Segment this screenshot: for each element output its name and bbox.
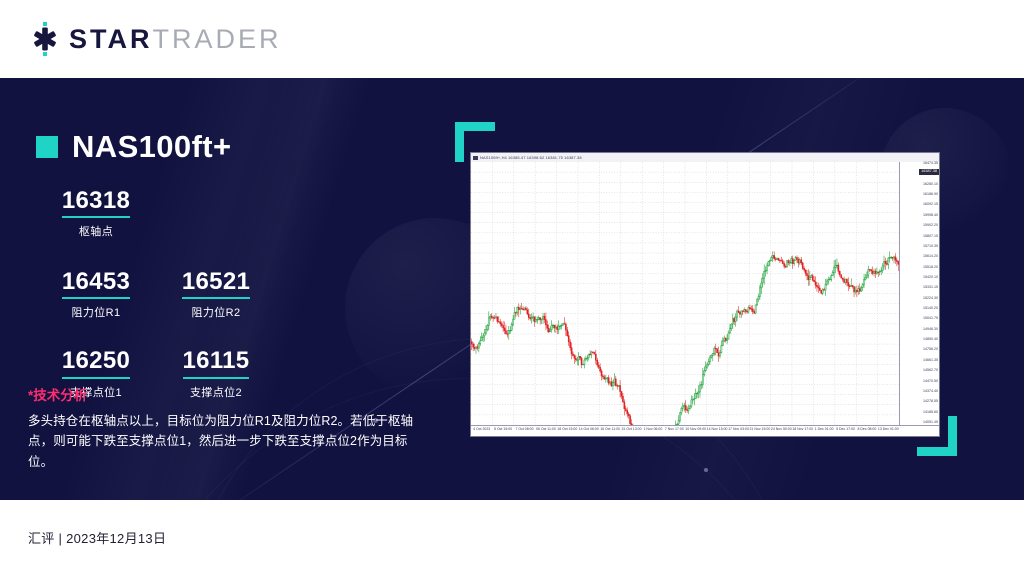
chart-menu-icon[interactable] bbox=[473, 156, 478, 160]
logo-text-star: STAR bbox=[69, 26, 153, 53]
level-pivot-label: 枢轴点 bbox=[36, 223, 156, 239]
level-s2-value: 16115 bbox=[183, 348, 250, 378]
chart-title-bar: NAS100ft+,H4 16385.47 16398.62 16381.75 … bbox=[471, 153, 939, 162]
price-tick: 15807.15 bbox=[923, 235, 938, 239]
logo-text-trader: TRADER bbox=[153, 26, 282, 53]
price-tick: 15224.30 bbox=[923, 297, 938, 301]
trading-chart-window[interactable]: NAS100ft+,H4 16385.47 16398.62 16381.75 … bbox=[470, 152, 940, 437]
time-tick: 8 Dec 08:00 bbox=[857, 428, 876, 432]
price-axis[interactable]: 16474.3516387.3816280.1016186.9016092.15… bbox=[899, 162, 939, 425]
time-tick: 31 Oct 13:00 bbox=[621, 428, 641, 432]
price-tick: 14946.30 bbox=[923, 328, 938, 332]
price-tick: 15420.10 bbox=[923, 276, 938, 280]
time-tick: 4 Oct 2023 bbox=[473, 428, 490, 432]
time-tick: 06 Oct 11:00 bbox=[536, 428, 556, 432]
level-r1-value: 16453 bbox=[62, 269, 130, 299]
time-tick: 5 Dec 17:00 bbox=[836, 428, 855, 432]
chart-title-text: NAS100ft+,H4 16385.47 16398.62 16381.75 … bbox=[471, 153, 939, 162]
price-tick: 15331.15 bbox=[923, 286, 938, 290]
page-footer: 汇评 | 2023年12月13日 bbox=[0, 500, 1024, 576]
instrument-title: NAS100ft+ bbox=[36, 129, 232, 165]
time-tick: 18 Oct 15:00 bbox=[557, 428, 577, 432]
last-price-badge: 16387.38 bbox=[919, 169, 939, 175]
level-s1-value: 16250 bbox=[62, 348, 130, 378]
time-axis[interactable]: 4 Oct 20235 Oct 15:007 Oct 08:0006 Oct 1… bbox=[471, 425, 939, 436]
time-tick: 16 Oct 11:00 bbox=[600, 428, 620, 432]
price-tick: 15518.20 bbox=[923, 266, 938, 270]
price-tick: 14850.40 bbox=[923, 338, 938, 342]
price-tick: 14661.35 bbox=[923, 359, 938, 363]
time-tick: 7 Nov 17:00 bbox=[665, 428, 684, 432]
pivot-levels: 16318 枢轴点 16453 阻力位R1 16521 阻力位R2 16250 … bbox=[36, 188, 296, 400]
price-tick: 14374.40 bbox=[923, 390, 938, 394]
price-tick: 14756.20 bbox=[923, 348, 938, 352]
footer-caption: 汇评 | 2023年12月13日 bbox=[28, 528, 166, 547]
price-tick: 14470.50 bbox=[923, 380, 938, 384]
time-tick: 13 Dec 01:00 bbox=[878, 428, 899, 432]
time-tick: 14 Oct 06:00 bbox=[579, 428, 599, 432]
level-r1: 16453 阻力位R1 bbox=[36, 269, 156, 320]
time-tick: 5 Oct 15:00 bbox=[494, 428, 512, 432]
level-pivot-value: 16318 bbox=[62, 188, 130, 218]
time-tick: 18 Nov 17:00 bbox=[792, 428, 813, 432]
time-tick: 17 Nov 03:00 bbox=[728, 428, 749, 432]
time-tick: 21 Nov 15:00 bbox=[749, 428, 770, 432]
price-tick: 16186.90 bbox=[923, 193, 938, 197]
page-header: STAR TRADER bbox=[0, 0, 1024, 78]
analysis-title: *技术分析 bbox=[28, 384, 418, 404]
analysis-body: 多头持仓在枢轴点以上，目标位为阻力位R1及阻力位R2。若低于枢轴点，则可能下跌至… bbox=[28, 411, 418, 472]
bg-dot bbox=[704, 468, 708, 472]
level-r1-label: 阻力位R1 bbox=[36, 304, 156, 320]
price-tick: 16092.15 bbox=[923, 203, 938, 207]
time-tick: 10 Nov 09:00 bbox=[685, 428, 706, 432]
price-tick: 15614.20 bbox=[923, 255, 938, 259]
title-accent-square bbox=[36, 136, 58, 158]
six-point-star-icon bbox=[28, 22, 62, 56]
price-tick: 16280.10 bbox=[923, 183, 938, 187]
brand-logo: STAR TRADER bbox=[28, 22, 282, 56]
price-tick: 14185.60 bbox=[923, 411, 938, 415]
technical-analysis: *技术分析 多头持仓在枢轴点以上，目标位为阻力位R1及阻力位R2。若低于枢轴点，… bbox=[28, 384, 418, 472]
level-r2-value: 16521 bbox=[182, 269, 250, 299]
price-tick: 15998.40 bbox=[923, 214, 938, 218]
price-tick: 15140.20 bbox=[923, 307, 938, 311]
price-tick: 16474.35 bbox=[923, 162, 938, 166]
level-r2-label: 阻力位R2 bbox=[156, 304, 276, 320]
price-tick: 14278.55 bbox=[923, 400, 938, 404]
price-tick: 15041.75 bbox=[923, 317, 938, 321]
level-pivot: 16318 枢轴点 bbox=[36, 188, 156, 239]
time-tick: 1 Nov 06:00 bbox=[643, 428, 662, 432]
time-tick: 1 Dec 01:00 bbox=[815, 428, 834, 432]
candlestick-plot[interactable] bbox=[471, 162, 899, 425]
time-tick: 7 Oct 08:00 bbox=[515, 428, 533, 432]
time-tick: 14 Nov 15:00 bbox=[707, 428, 728, 432]
instrument-name: NAS100ft+ bbox=[72, 129, 232, 165]
price-tick: 15902.20 bbox=[923, 224, 938, 228]
price-tick: 14562.70 bbox=[923, 369, 938, 373]
level-r2: 16521 阻力位R2 bbox=[156, 269, 276, 320]
price-tick: 15710.35 bbox=[923, 245, 938, 249]
time-tick: 24 Nov 50:00 bbox=[771, 428, 792, 432]
